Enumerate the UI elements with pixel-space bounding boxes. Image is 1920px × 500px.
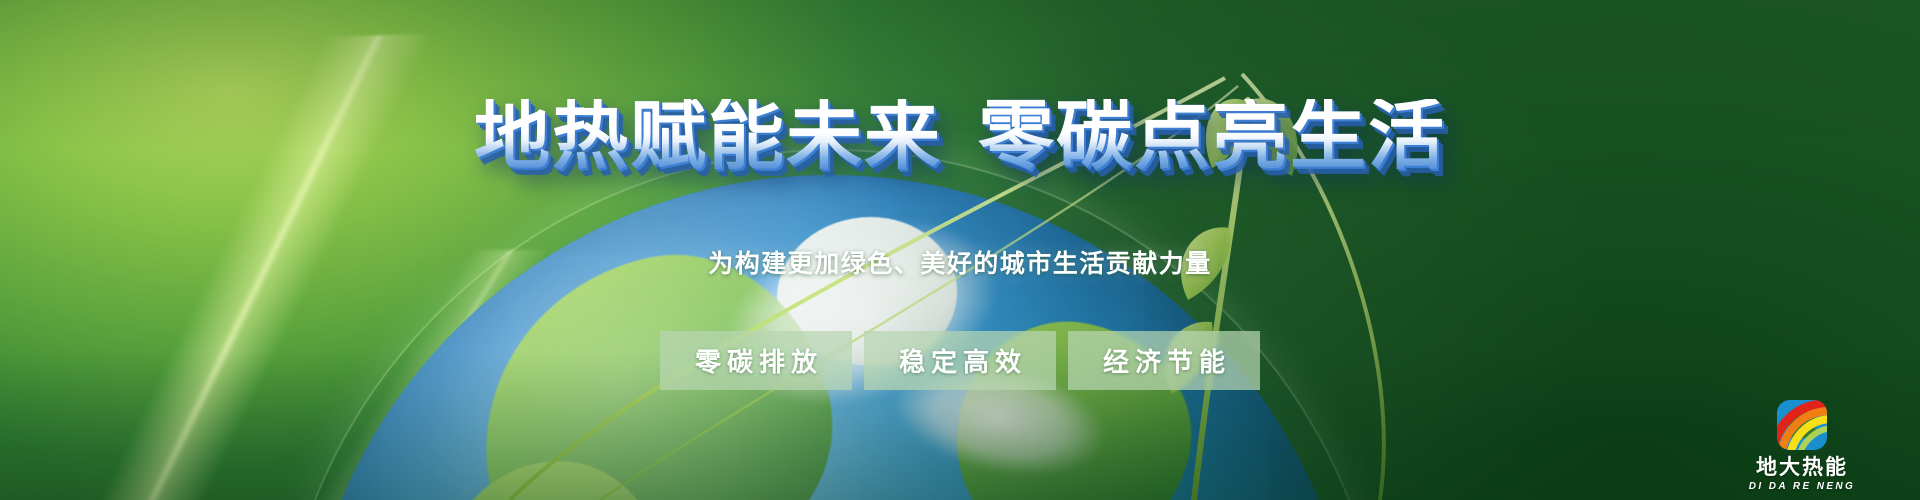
headline-part1: 地热赋能未来: [474, 94, 942, 179]
feature-tag-economic-energy-saving[interactable]: 经济节能: [1068, 331, 1260, 390]
promo-banner: 地热赋能未来零碳点亮生活 地热赋能未来零碳点亮生活 为构建更加绿色、美好的城市生…: [0, 0, 1920, 500]
feature-tag-stable-efficient[interactable]: 稳定高效: [864, 331, 1056, 390]
banner-content: 地热赋能未来零碳点亮生活 地热赋能未来零碳点亮生活 为构建更加绿色、美好的城市生…: [0, 0, 1920, 500]
page-title: 地热赋能未来零碳点亮生活: [0, 99, 1920, 175]
banner-subtitle: 为构建更加绿色、美好的城市生活贡献力量: [0, 244, 1920, 280]
logo-english-name: DI DA RE NENG: [1736, 481, 1868, 492]
rainbow-arc-in-rounded-square-icon: [1769, 398, 1835, 452]
feature-tag-list: 零碳排放 稳定高效 经济节能: [0, 331, 1920, 390]
logo-chinese-name: 地大热能: [1736, 456, 1868, 479]
feature-tag-zero-carbon[interactable]: 零碳排放: [660, 331, 852, 390]
headline-part2: 零碳点亮生活: [978, 94, 1446, 179]
company-logo[interactable]: 地大热能 DI DA RE NENG: [1736, 398, 1868, 492]
